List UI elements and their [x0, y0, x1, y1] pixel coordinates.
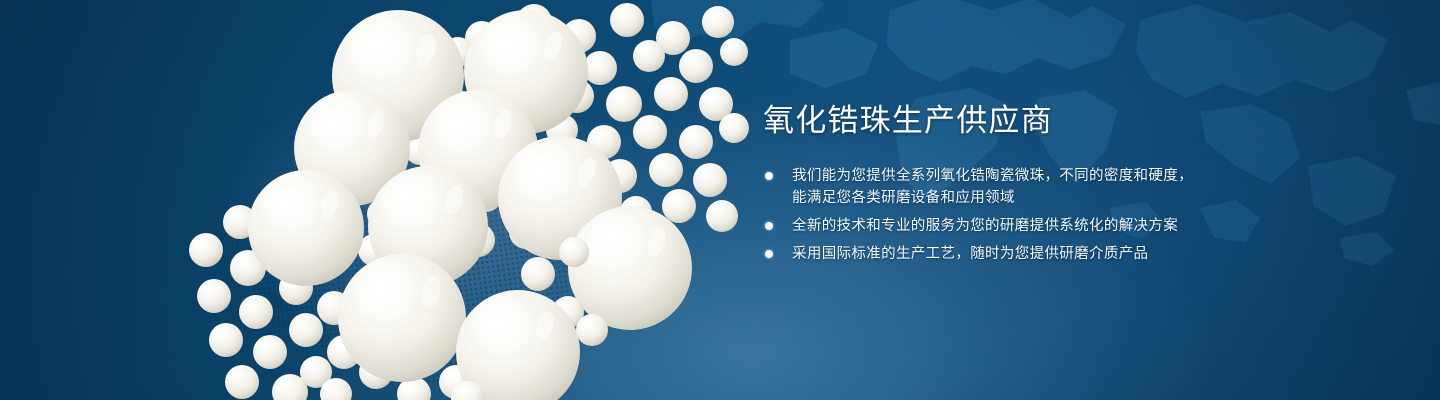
list-item-line: 能满足您各类研磨设备和应用领域: [792, 187, 1403, 209]
zirconia-ceramic-beads-photo: [130, 0, 750, 400]
feature-list: 我们能为您提供全系列氧化锆陶瓷微珠，不同的密度和硬度， 能满足您各类研磨设备和应…: [763, 165, 1403, 265]
list-item-line: 全新的技术和专业的服务为您的研磨提供系统化的解决方案: [792, 215, 1403, 237]
list-item: 采用国际标准的生产工艺，随时为您提供研磨介质产品: [763, 243, 1403, 265]
list-item: 全新的技术和专业的服务为您的研磨提供系统化的解决方案: [763, 215, 1403, 237]
bullet-dot-icon: [765, 250, 773, 258]
list-item-line: 我们能为您提供全系列氧化锆陶瓷微珠，不同的密度和硬度，: [792, 165, 1403, 187]
list-item: 我们能为您提供全系列氧化锆陶瓷微珠，不同的密度和硬度， 能满足您各类研磨设备和应…: [763, 165, 1403, 209]
bullet-dot-icon: [765, 172, 773, 180]
banner-copy: 氧化锆珠生产供应商 我们能为您提供全系列氧化锆陶瓷微珠，不同的密度和硬度， 能满…: [763, 104, 1403, 265]
list-item-line: 采用国际标准的生产工艺，随时为您提供研磨介质产品: [792, 243, 1403, 265]
hero-banner: 氧化锆珠生产供应商 我们能为您提供全系列氧化锆陶瓷微珠，不同的密度和硬度， 能满…: [0, 0, 1440, 400]
bullet-dot-icon: [765, 222, 773, 230]
page-title: 氧化锆珠生产供应商: [763, 104, 1403, 139]
